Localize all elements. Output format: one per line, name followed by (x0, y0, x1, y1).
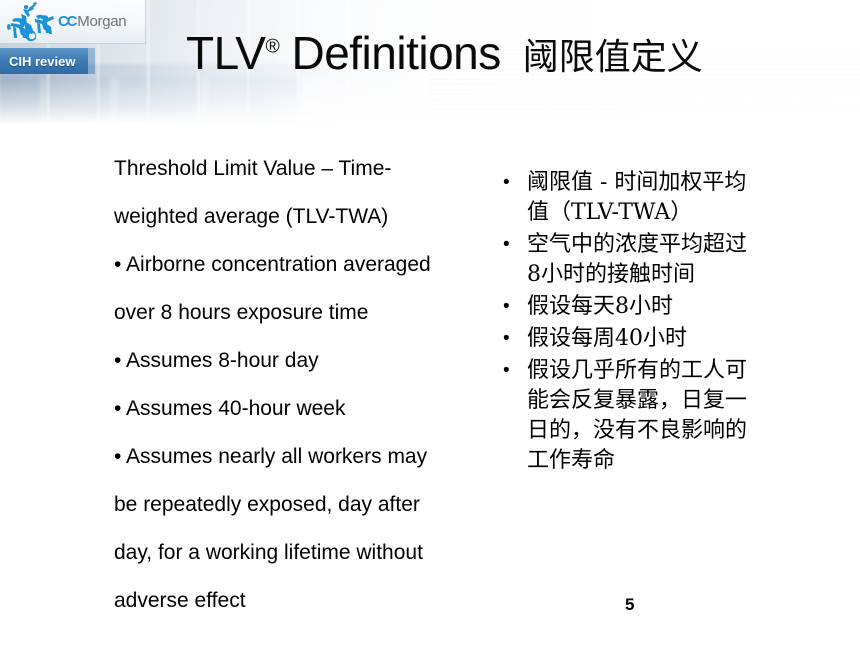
list-item: • 空气中的浓度平均超过 8小时的接触时间 (497, 230, 847, 290)
left-column-line: over 8 hours exposure time (114, 289, 486, 337)
bullet-icon: • (497, 230, 527, 260)
brand-prefix-text: CC (58, 13, 75, 30)
bullet-icon: • (497, 168, 527, 198)
list-item-line: 假设每天8小时 (527, 292, 847, 322)
left-column-line: weighted average (TLV-TWA) (114, 193, 486, 241)
ccmorgan-lion-chariot-logo-icon (4, 2, 56, 42)
slide-canvas: CCMorgan CIH review TLV® Definitions 阈限值… (0, 0, 860, 650)
slide-title-english: TLV® Definitions (186, 30, 501, 76)
left-column-line: adverse effect (114, 577, 486, 625)
list-item-line: 工作寿命 (527, 446, 847, 476)
list-item: • 假设每天8小时 (497, 292, 847, 322)
list-item-line: 日的，没有不良影响的 (527, 416, 847, 446)
slide-title-english-rest: Definitions (279, 27, 501, 79)
bullet-icon: • (497, 324, 527, 354)
right-text-column: • 阈限值 - 时间加权平均 值（TLV-TWA） • 空气中的浓度平均超过 8… (497, 168, 847, 478)
list-item-line: 能会反复暴露，日复一 (527, 386, 847, 416)
bullet-icon: • (497, 292, 527, 322)
list-item: • 阈限值 - 时间加权平均 值（TLV-TWA） (497, 168, 847, 228)
left-column-line: Threshold Limit Value – Time- (114, 145, 486, 193)
list-item-text: 假设几乎所有的工人可 能会反复暴露，日复一 日的，没有不良影响的 工作寿命 (527, 356, 847, 476)
list-item-line: 阈限值 - 时间加权平均 (527, 168, 847, 198)
brand-name-text: Morgan (77, 13, 126, 30)
list-item-line: 8小时的接触时间 (527, 260, 847, 290)
list-item: • 假设每周40小时 (497, 324, 847, 354)
list-item-text: 空气中的浓度平均超过 8小时的接触时间 (527, 230, 847, 290)
slide-header-banner: CCMorgan CIH review TLV® Definitions 阈限值… (0, 0, 860, 125)
list-item-text: 假设每天8小时 (527, 292, 847, 322)
list-item: • 假设几乎所有的工人可 能会反复暴露，日复一 日的，没有不良影响的 工作寿命 (497, 356, 847, 476)
list-item-line: 假设几乎所有的工人可 (527, 356, 847, 386)
left-column-line: • Airborne concentration averaged (114, 241, 486, 289)
list-item-text: 假设每周40小时 (527, 324, 847, 354)
cih-review-badge-tail (88, 48, 95, 74)
left-column-line: day, for a working lifetime without (114, 529, 486, 577)
brand-logo-wordmark: CCMorgan (58, 14, 126, 29)
left-column-line: • Assumes nearly all workers may (114, 433, 486, 481)
left-column-line: • Assumes 8-hour day (114, 337, 486, 385)
slide-title-english-main: TLV (186, 27, 265, 79)
slide-title-chinese: 阈限值定义 (523, 40, 703, 76)
left-column-line: be repeatedly exposed, day after (114, 481, 486, 529)
page-number: 5 (625, 595, 634, 615)
bullet-icon: • (497, 356, 527, 386)
registered-trademark-icon: ® (265, 37, 279, 58)
cih-review-badge: CIH review (0, 48, 88, 74)
slide-title-row: TLV® Definitions 阈限值定义 (186, 30, 846, 100)
left-column-line: • Assumes 40-hour week (114, 385, 486, 433)
brand-logo-plate: CCMorgan (0, 0, 146, 44)
list-item-line: 值（TLV-TWA） (527, 198, 847, 228)
list-item-line: 假设每周40小时 (527, 324, 847, 354)
left-text-column: Threshold Limit Value – Time- weighted a… (114, 145, 486, 625)
list-item-line: 空气中的浓度平均超过 (527, 230, 847, 260)
list-item-text: 阈限值 - 时间加权平均 值（TLV-TWA） (527, 168, 847, 228)
